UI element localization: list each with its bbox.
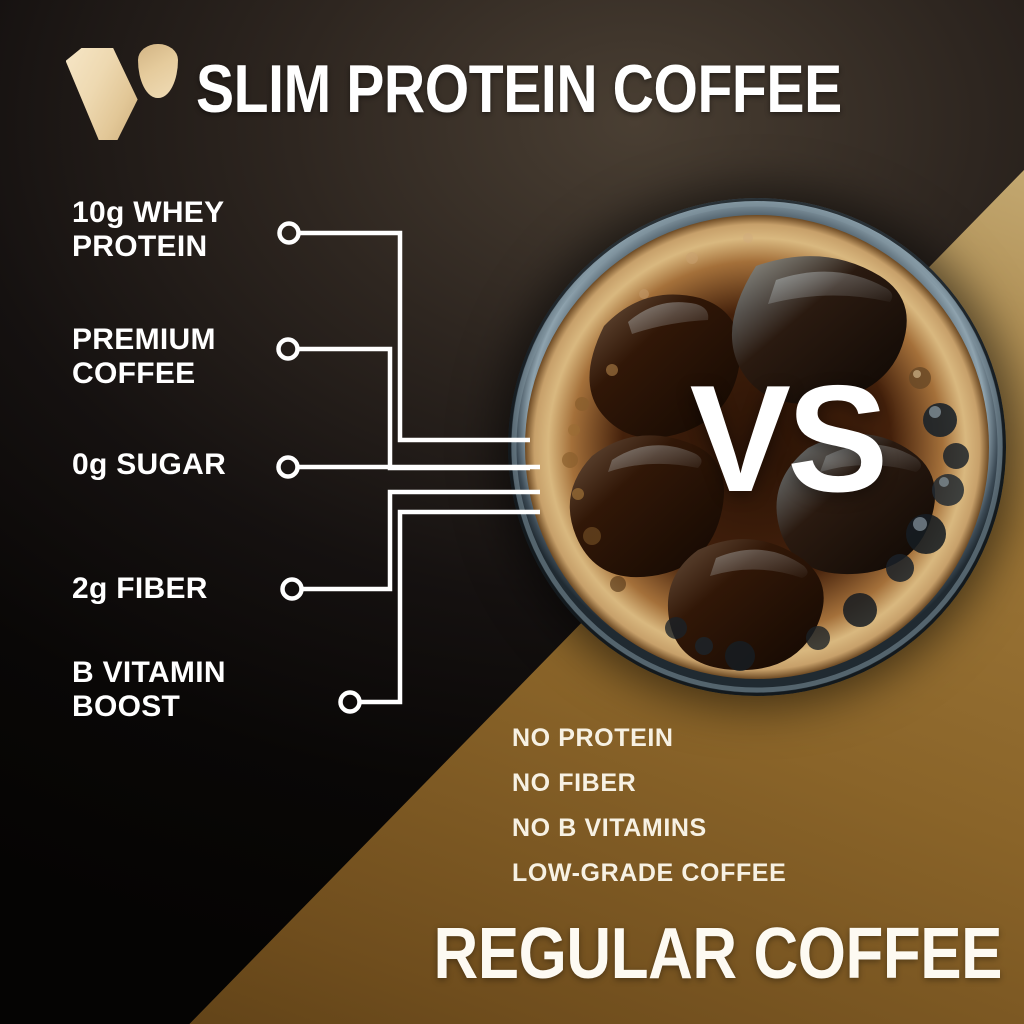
feature-item-sugar: 0g SUGAR (72, 448, 226, 482)
con-item-low-grade-coffee: LOW-GRADE COFFEE (512, 861, 786, 886)
iced-coffee-cup-image (508, 198, 1006, 696)
poster-header: SLIM PROTEIN COFFEE (0, 38, 1024, 140)
feature-item-whey-protein: 10g WHEY PROTEIN (72, 196, 224, 263)
feature-item-fiber: 2g FIBER (72, 572, 208, 606)
v-droplet-logo (60, 38, 172, 140)
logo-droplet-icon (138, 44, 178, 98)
con-item-no-b-vitamins: NO B VITAMINS (512, 816, 786, 841)
page-title: SLIM PROTEIN COFFEE (196, 57, 842, 122)
competitor-con-list: NO PROTEIN NO FIBER NO B VITAMINS LOW-GR… (512, 726, 786, 906)
con-item-no-protein: NO PROTEIN (512, 726, 786, 751)
feature-item-premium-coffee: PREMIUM COFFEE (72, 323, 216, 390)
feature-item-b-vitamin: B VITAMIN BOOST (72, 656, 226, 723)
con-item-no-fiber: NO FIBER (512, 771, 786, 796)
competitor-title: REGULAR COFFEE (140, 920, 1002, 988)
protein-coffee-comparison-poster: SLIM PROTEIN COFFEE (0, 0, 1024, 1024)
logo-v-shape-icon (66, 48, 138, 140)
